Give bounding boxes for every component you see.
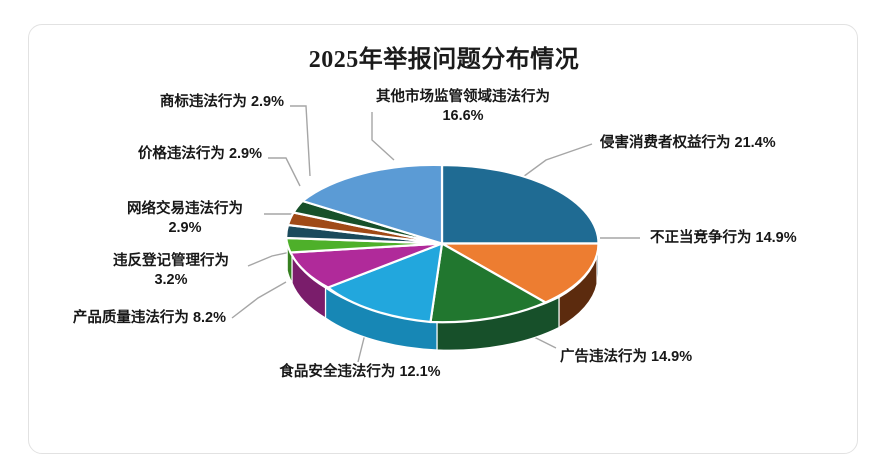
label-other: 其他市场监管领域违法行为 16.6% [348,88,578,126]
label-consumer-rights: 侵害消费者权益行为 21.4% [600,134,776,153]
label-unfair-competition: 不正当竞争行为 14.9% [650,229,797,248]
label-ecommerce: 网络交易违法行为 2.9% [114,200,256,238]
label-trademark: 商标违法行为 2.9% [80,93,284,112]
label-price: 价格违法行为 2.9% [60,145,262,164]
chart-title: 2025年举报问题分布情况 [29,39,859,74]
label-advertising: 广告违法行为 14.9% [560,348,692,367]
label-food-safety: 食品安全违法行为 12.1% [260,363,460,382]
label-product-quality: 产品质量违法行为 8.2% [30,309,226,328]
label-registration: 违反登记管理行为 3.2% [100,252,242,290]
